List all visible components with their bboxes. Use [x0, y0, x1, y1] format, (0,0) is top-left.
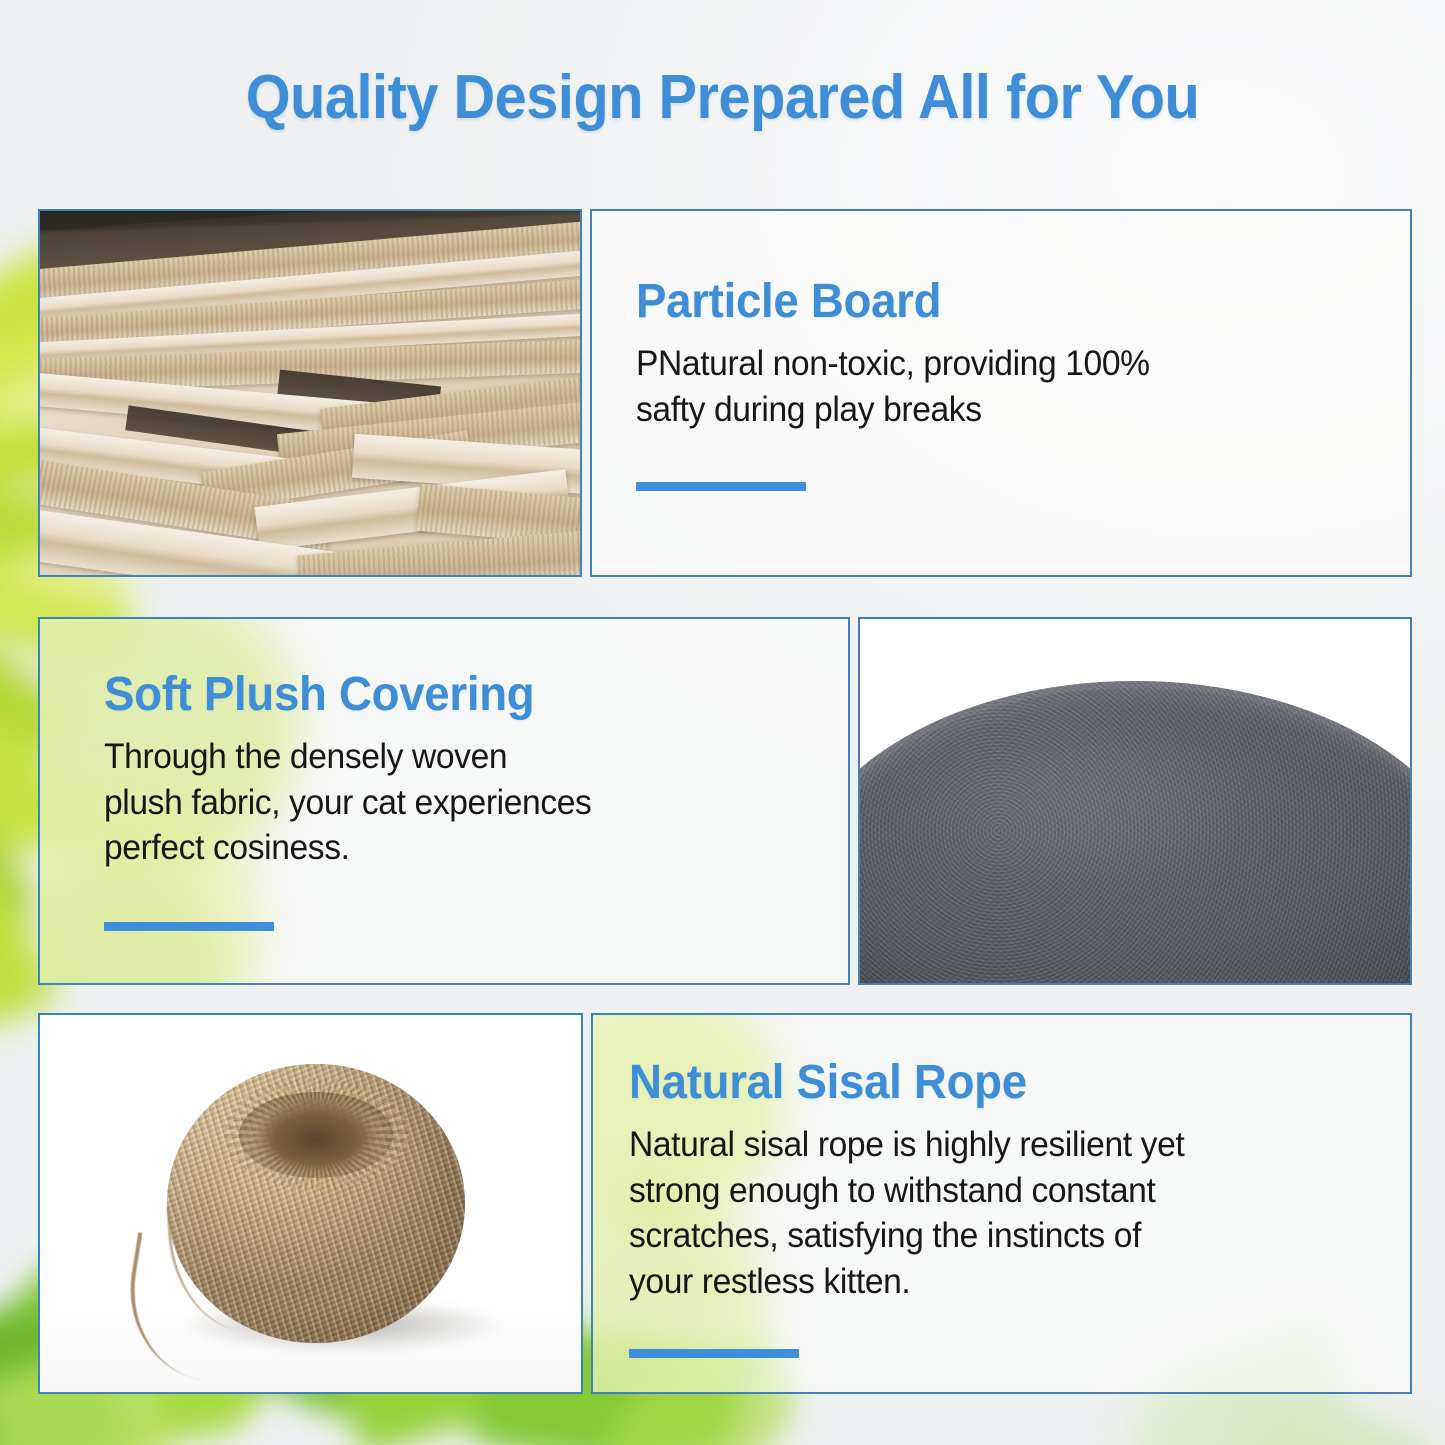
card-heading-sisal-rope: Natural Sisal Rope [629, 1055, 1371, 1110]
feature-card-particle-board: Particle Board PNatural non-toxic, provi… [38, 209, 1412, 577]
panel-gap [583, 1013, 591, 1394]
particle-board-image [40, 211, 580, 575]
soft-plush-text-panel: Soft Plush Covering Through the densely … [38, 617, 850, 985]
accent-bar-particle-board [636, 482, 806, 491]
rope-core-ring [224, 1078, 408, 1190]
sisal-rope-text-panel: Natural Sisal Rope Natural sisal rope is… [591, 1013, 1412, 1394]
plush-rim-highlight [858, 681, 1412, 985]
card-heading-soft-plush: Soft Plush Covering [104, 667, 811, 722]
panel-gap [582, 209, 590, 577]
infographic-page: Quality Design Prepared All for You [0, 0, 1445, 1445]
card-heading-particle-board: Particle Board [636, 274, 1371, 329]
plush-fabric-image [860, 619, 1410, 983]
sisal-rope-photo [38, 1013, 583, 1394]
accent-bar-soft-plush [104, 922, 274, 931]
panel-gap [850, 617, 858, 985]
feature-card-soft-plush-covering: Soft Plush Covering Through the densely … [38, 617, 1412, 985]
card-body-soft-plush: Through the densely woven plush fabric, … [104, 734, 818, 871]
sisal-rope-image [40, 1015, 581, 1392]
page-title: Quality Design Prepared All for You [51, 62, 1395, 133]
accent-bar-sisal-rope [629, 1349, 799, 1358]
plush-fabric-photo [858, 617, 1412, 985]
plush-cushion-shape [858, 681, 1412, 985]
particle-board-text-panel: Particle Board PNatural non-toxic, provi… [590, 209, 1412, 577]
card-body-particle-board: PNatural non-toxic, providing 100% safty… [636, 341, 1379, 432]
particle-board-photo [38, 209, 582, 577]
card-body-sisal-rope: Natural sisal rope is highly resilient y… [629, 1122, 1379, 1304]
feature-card-natural-sisal-rope: Natural Sisal Rope Natural sisal rope is… [38, 1013, 1412, 1394]
